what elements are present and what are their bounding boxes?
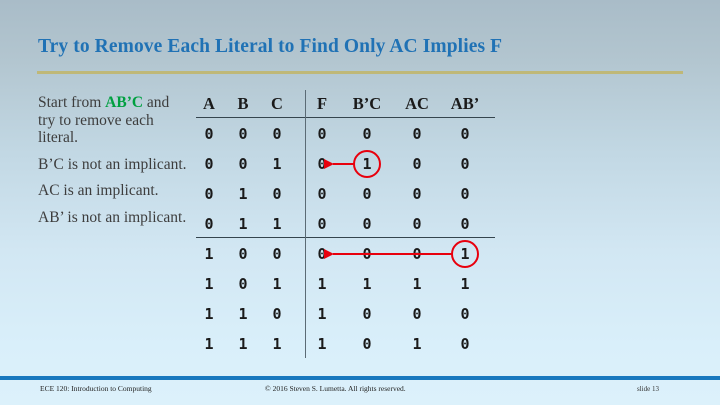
cell-f: 1 [302,270,342,298]
bullet-text-prefix: AC is an implicant. [38,182,159,199]
cell-f: 0 [302,150,342,178]
cell-bc: 1 [347,150,387,178]
cell-ac: 1 [397,270,437,298]
cell-f: 0 [302,120,342,148]
cell-bc: 0 [347,120,387,148]
cell-ab: 0 [445,180,485,208]
cell-c: 1 [257,150,297,178]
column-header-ac: AC [397,90,437,118]
footer-course-label: ECE 120: Introduction to Computing [40,384,152,393]
cell-ab: 0 [445,300,485,328]
bullet-highlight-term: AB’C [105,94,143,111]
footer-divider-bar [0,376,720,380]
cell-c: 1 [257,330,297,358]
list-item: AC is an implicant. [38,182,188,200]
list-item: Start from AB’C and try to remove each l… [38,94,188,147]
table-row: 0 0 1 0 1 0 0 [196,150,496,178]
footer: ECE 120: Introduction to Computing © 201… [0,384,720,400]
table-row: 1 1 0 1 0 0 0 [196,300,496,328]
bullet-list: Start from AB’C and try to remove each l… [38,94,188,226]
cell-f: 1 [302,330,342,358]
cell-bc: 1 [347,270,387,298]
footer-slide-number: slide 13 [637,385,659,393]
cell-f: 1 [302,300,342,328]
column-header-bc: B’C [347,90,387,118]
table-row: 0 1 0 0 0 0 0 [196,180,496,208]
cell-ac: 1 [397,330,437,358]
cell-ac: 0 [397,240,437,268]
bullet-text-prefix: AB’ is not an implicant. [38,209,186,226]
column-header-f: F [302,90,342,118]
list-item: AB’ is not an implicant. [38,209,188,227]
cell-c: 0 [257,300,297,328]
cell-ac: 0 [397,300,437,328]
cell-ab: 0 [445,120,485,148]
cell-c: 1 [257,270,297,298]
cell-f: 0 [302,240,342,268]
cell-ab: 0 [445,150,485,178]
cell-f: 0 [302,210,342,238]
page-title: Try to Remove Each Literal to Find Only … [38,36,688,58]
cell-ac: 0 [397,120,437,148]
cell-ab: 0 [445,330,485,358]
cell-ab: 0 [445,210,485,238]
cell-bc: 0 [347,240,387,268]
cell-ac: 0 [397,180,437,208]
cell-bc: 0 [347,180,387,208]
bullet-text-prefix: B’C is not an implicant. [38,156,187,173]
cell-c: 0 [257,240,297,268]
table-row: 0 0 0 0 0 0 0 [196,120,496,148]
column-header-ab: AB’ [445,90,485,118]
cell-ac: 0 [397,150,437,178]
title-underline-rule [37,71,683,74]
header-divider-rule [196,117,495,118]
cell-ab: 1 [445,270,485,298]
cell-bc: 0 [347,330,387,358]
cell-c: 0 [257,180,297,208]
cell-f: 0 [302,180,342,208]
slide-canvas: Try to Remove Each Literal to Find Only … [0,0,720,405]
table-row: 0 1 1 0 0 0 0 [196,210,496,238]
cell-ab: 1 [445,240,485,268]
table-header-row: A B C F B’C AC AB’ [196,90,496,118]
cell-c: 1 [257,210,297,238]
cell-bc: 0 [347,300,387,328]
table-row: 1 0 1 1 1 1 1 [196,270,496,298]
cell-c: 0 [257,120,297,148]
truth-table: A B C F B’C AC AB’ 0 0 0 0 0 0 0 0 0 1 0… [196,90,496,358]
cell-ac: 0 [397,210,437,238]
list-item: B’C is not an implicant. [38,156,188,174]
table-row: 1 0 0 0 0 0 1 [196,240,496,268]
table-row: 1 1 1 1 0 1 0 [196,330,496,358]
footer-copyright-label: © 2016 Steven S. Lumetta. All rights res… [265,384,406,393]
column-header-c: C [257,90,297,118]
bullet-text-prefix: Start from [38,94,105,111]
cell-bc: 0 [347,210,387,238]
